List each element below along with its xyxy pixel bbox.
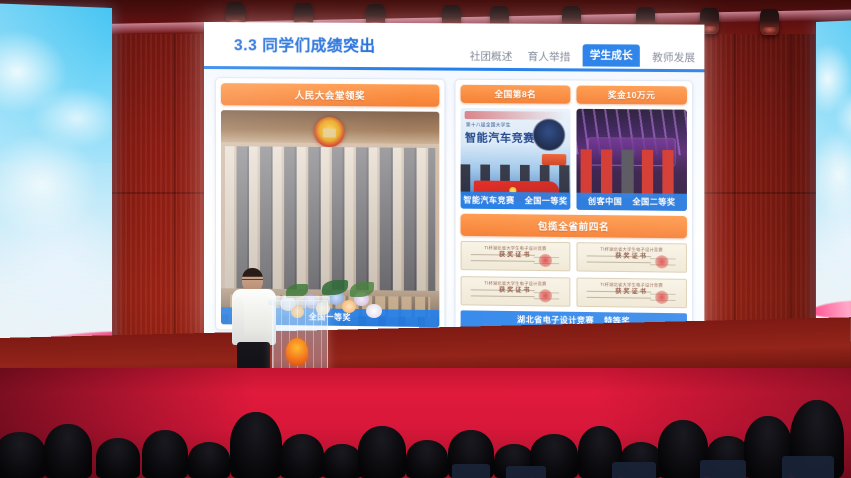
team-row [581, 149, 683, 199]
certificate-card: TI杯湖北省大学生电子设计竞赛 获奖证书 [461, 241, 571, 272]
audience-head [358, 426, 406, 478]
seat-back [506, 466, 546, 478]
audience-head [0, 432, 46, 478]
slide-header: 3.3 同学们成绩突出 社团概述 育人举措 学生成长 教师发展 [204, 22, 704, 71]
banner-prize-money: 奖金10万元 [576, 86, 687, 105]
speaker-arm [233, 298, 244, 340]
audience-head [406, 440, 448, 478]
left-banner: 人民大会堂领奖 [221, 83, 439, 107]
screen-glare [816, 19, 851, 342]
media-caption-2: 创客中国 全国二等奖 [576, 193, 687, 211]
tab-teacher-development[interactable]: 教师发展 [649, 48, 698, 68]
certificate-grid: TI杯湖北省大学生电子设计竞赛 获奖证书 TI杯湖北省大学生电子设计竞赛 获奖证… [461, 241, 687, 308]
seat-back [612, 462, 656, 478]
red-seal-icon [539, 289, 552, 302]
side-screen-right [816, 19, 851, 342]
media-caption-2-right: 全国二等奖 [632, 196, 675, 208]
certificate-text-lines [587, 291, 651, 303]
poster-seal-icon [532, 119, 565, 152]
seat-back [700, 460, 746, 478]
certificate-text-lines [471, 290, 535, 302]
media-caption-1: 智能汽车竞赛 全国一等奖 [461, 192, 571, 210]
glasses-icon [242, 279, 263, 284]
audience-head [230, 412, 282, 478]
media-caption-2-left: 创客中国 [588, 196, 622, 207]
red-seal-icon [539, 254, 552, 267]
certificate-text-lines [587, 256, 651, 268]
auditorium-scene: 3.3 同学们成绩突出 社团概述 育人举措 学生成长 教师发展 人民大会堂领奖 [0, 0, 851, 478]
tab-club-overview[interactable]: 社团概述 [467, 47, 516, 66]
wall-seam [174, 0, 176, 380]
audience-head [142, 430, 188, 478]
certificate-card: TI杯湖北省大学生电子设计竞赛 获奖证书 [461, 276, 571, 307]
media-caption-1-right: 全国一等奖 [525, 195, 568, 207]
screen-glare [0, 3, 112, 380]
section-banner: 包揽全省前四名 [461, 214, 687, 239]
poster-title: 智能汽车竞赛 [465, 129, 535, 146]
tab-student-growth[interactable]: 学生成长 [583, 44, 640, 67]
leaf [350, 282, 374, 297]
slide-tab-bar: 社团概述 育人举措 学生成长 教师发展 [467, 44, 699, 68]
certificate-card: TI杯湖北省大学生电子设计竞赛 获奖证书 [576, 242, 687, 273]
smart-car-poster: 第十八届全国大学生 智能汽车竞赛 智能汽车竞赛 全国一等奖 [461, 108, 571, 210]
stage-light [760, 9, 779, 35]
certificate-card: TI杯湖北省大学生电子设计竞赛 获奖证书 [576, 278, 687, 309]
audience-head [44, 424, 92, 478]
audience-head [322, 444, 362, 478]
poster-badge [541, 154, 565, 165]
certificate-text-lines [471, 254, 535, 266]
seat-back [452, 464, 490, 478]
banner-national-rank: 全国第8名 [461, 85, 571, 104]
tab-education-measures[interactable]: 育人举措 [525, 47, 574, 66]
makers-china-photo: 创客中国 全国二等奖 [576, 109, 687, 211]
side-screen-left [0, 3, 112, 380]
poster-subtitle: 第十八届全国大学生 [466, 122, 511, 128]
podium-flower-accent [286, 338, 308, 366]
media-row: 第十八届全国大学生 智能汽车竞赛 智能汽车竞赛 全国一等奖 [461, 108, 687, 211]
slide-title: 3.3 同学们成绩突出 [234, 33, 376, 56]
audience-head [188, 442, 230, 478]
red-seal-icon [655, 290, 668, 303]
red-seal-icon [655, 255, 668, 268]
flower [366, 304, 382, 318]
leaf [322, 280, 348, 295]
right-content-card: 全国第8名 奖金10万元 第十八届全国大学生 智能汽车竞赛 [454, 79, 693, 337]
seat-back [782, 456, 834, 478]
media-caption-1-left: 智能汽车竞赛 [463, 195, 514, 207]
audience-head [96, 438, 140, 478]
national-emblem-icon [315, 117, 345, 147]
right-banner-row: 全国第8名 奖金10万元 [461, 85, 687, 105]
audience-head [280, 434, 324, 478]
